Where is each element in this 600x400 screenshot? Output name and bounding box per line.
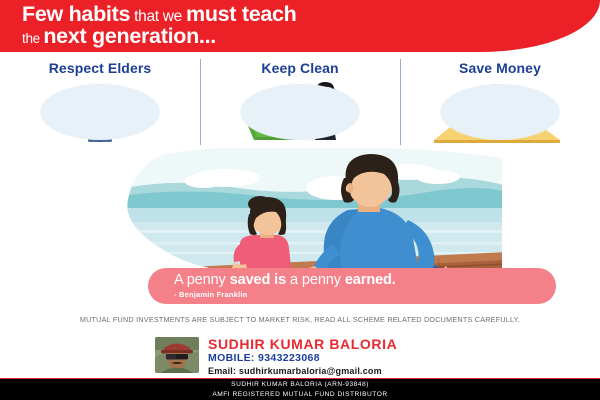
footer-line-1: SUDHIR KUMAR BALORIA (ARN-93848) [231,380,369,390]
headline-line-2: the next generation... [22,25,562,48]
habit-item-keep-clean: Keep Clean [200,55,400,148]
headline-light-2: the [22,31,43,46]
quote-part-3: a penny [286,272,345,288]
poster-root: Few habits that we must teach the next g… [0,0,600,400]
header-banner: Few habits that we must teach the next g… [0,0,600,52]
contact-block: SUDHIR KUMAR BALORIA MOBILE: 9343223068 … [155,337,397,377]
footer-line-2: AMFI REGISTERED MUTUAL FUND DISTRIBUTOR [212,390,387,400]
quote-part-1: A penny [174,272,230,288]
headline-light-1: that we [130,8,186,25]
avatar [155,337,199,373]
habit-item-respect-elders: Respect Elders [0,55,200,148]
habit-title: Save Money [459,60,541,76]
footer-bar: SUDHIR KUMAR BALORIA (ARN-93848) AMFI RE… [0,378,600,400]
profile-photo-icon [155,337,199,373]
headline-bold-3: next generation... [43,24,216,48]
save-money-icon [420,78,580,144]
quote-author: - Benjamin Franklin [174,290,556,299]
headline-bold-1: Few habits [22,2,130,26]
habit-item-save-money: Save Money [400,55,600,148]
habit-title: Respect Elders [49,60,152,76]
quote-banner: A penny saved is a penny earned. - Benja… [148,268,556,304]
quote-part-2: saved is [230,272,286,288]
headline-line-1: Few habits that we must teach [22,3,562,26]
blob-backdrop [240,84,360,140]
keep-clean-icon [220,78,380,144]
respect-elders-icon [20,78,180,144]
quote-part-4: earned. [345,272,396,288]
contact-details: SUDHIR KUMAR BALORIA MOBILE: 9343223068 … [208,337,397,377]
headline-bold-2: must teach [186,2,297,26]
disclaimer-text: MUTUAL FUND INVESTMENTS ARE SUBJECT TO M… [0,315,600,324]
blob-backdrop [40,84,160,140]
blob-backdrop [440,84,560,140]
quote-text: A penny saved is a penny earned. [174,273,556,288]
header-headline: Few habits that we must teach the next g… [22,3,562,48]
habits-row: Respect Elders [0,55,600,148]
habit-title: Keep Clean [261,60,338,76]
contact-mobile[interactable]: MOBILE: 9343223068 [208,352,397,365]
contact-name: SUDHIR KUMAR BALORIA [208,337,397,352]
contact-email[interactable]: Email: sudhirkumarbaloria@gmail.com [208,366,397,377]
